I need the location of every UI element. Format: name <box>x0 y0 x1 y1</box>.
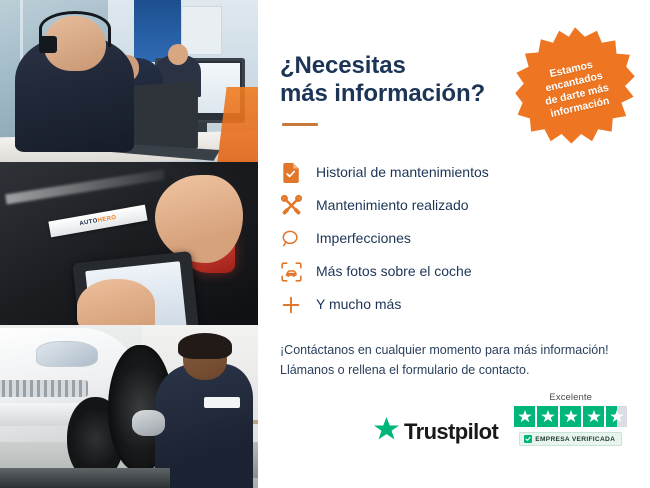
headline-line-2: más información? <box>280 80 485 107</box>
verified-company-label: EMPRESA VERIFICADA <box>535 436 615 443</box>
list-item-label: Imperfecciones <box>316 231 411 246</box>
car-scan-icon <box>280 261 302 283</box>
contact-paragraph: ¡Contáctanos en cualquier momento para m… <box>280 340 624 381</box>
star-filled-4 <box>583 406 604 427</box>
trustpilot-widget[interactable]: Trustpilot Excelente <box>374 392 627 446</box>
star-filled-3 <box>560 406 581 427</box>
list-item: Historial de mantenimientos <box>280 162 624 184</box>
autohero-ruler-logo: AUTOHERO <box>79 214 117 226</box>
page-title: ¿Necesitas más información? <box>280 52 510 109</box>
verified-company-badge: EMPRESA VERIFICADA <box>519 432 622 446</box>
plus-icon <box>280 294 302 316</box>
star-half-5 <box>606 406 627 427</box>
list-item: Y mucho más <box>280 294 624 316</box>
list-item-label: Historial de mantenimientos <box>316 165 489 180</box>
photo-column: AUTOHERO <box>0 0 258 488</box>
trustpilot-star-icon <box>374 417 399 446</box>
contact-line-2: Llámanos o rellena el formulario de cont… <box>280 363 529 377</box>
trustpilot-stars <box>514 406 627 427</box>
list-item: Más fotos sobre el coche <box>280 261 624 283</box>
photo-paint-inspection-ruler: AUTOHERO <box>0 162 258 325</box>
trustpilot-rating-label: Excelente <box>549 392 592 403</box>
star-filled-1 <box>514 406 535 427</box>
headline-line-1: ¿Necesitas <box>280 52 406 79</box>
star-filled-2 <box>537 406 558 427</box>
document-check-icon <box>280 162 302 184</box>
list-item-label: Más fotos sobre el coche <box>316 264 472 279</box>
list-item-label: Y mucho más <box>316 297 401 312</box>
trustpilot-logo: Trustpilot <box>374 417 498 446</box>
contact-line-1: ¡Contáctanos en cualquier momento para m… <box>280 343 609 357</box>
photo-call-centre-agents <box>0 0 258 162</box>
check-icon <box>524 435 532 443</box>
list-item: Imperfecciones <box>280 228 624 250</box>
title-divider <box>282 123 318 126</box>
feature-list: Historial de mantenimientos M <box>280 162 624 316</box>
list-item: Mantenimiento realizado <box>280 195 624 217</box>
magnifier-icon <box>280 228 302 250</box>
trustpilot-wordmark: Trustpilot <box>404 419 498 445</box>
content-panel: Estamos encantados de darte más informac… <box>258 0 650 488</box>
info-promo-card: AUTOHERO <box>0 0 650 488</box>
trustpilot-rating: Excelente <box>514 392 627 446</box>
tools-cross-icon <box>280 195 302 217</box>
photo-mechanic-wheel-check <box>0 325 258 488</box>
promo-starburst-badge: Estamos encantados de darte más informac… <box>514 26 636 146</box>
list-item-label: Mantenimiento realizado <box>316 198 469 213</box>
